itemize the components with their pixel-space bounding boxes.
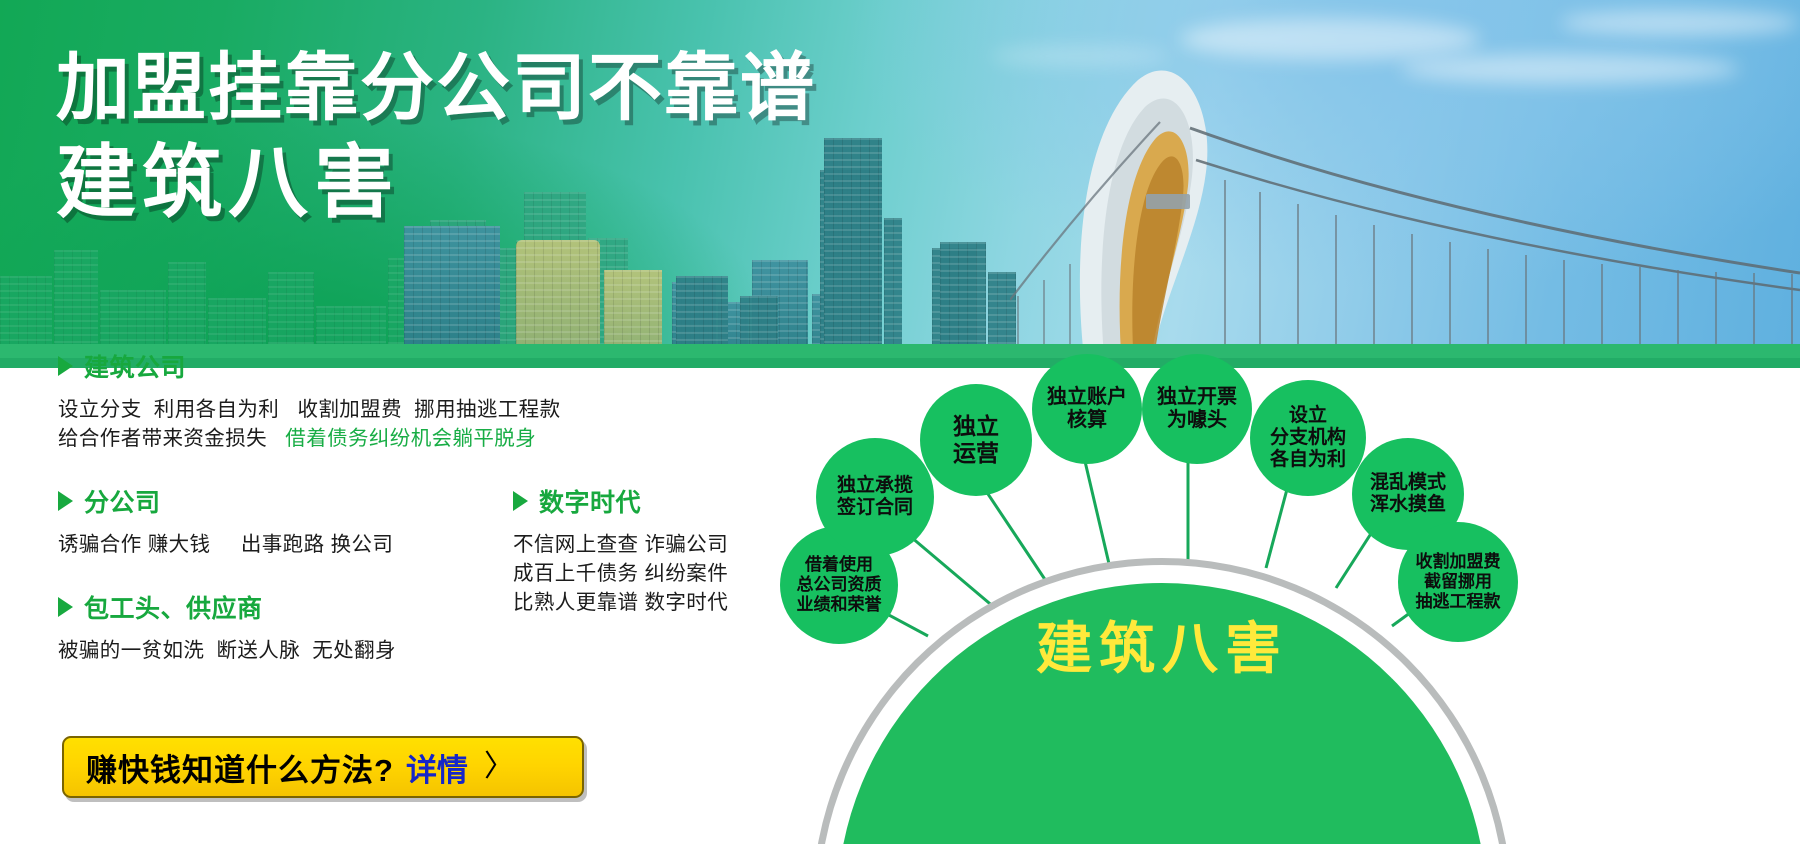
bubble-line: 业绩和荣誉 bbox=[797, 595, 882, 615]
bubble-line: 分支机构 bbox=[1270, 427, 1346, 449]
hero-title-line2: 建筑八害 bbox=[56, 142, 816, 224]
bubble-line: 运营 bbox=[953, 440, 999, 467]
bubble-line: 独立 bbox=[953, 413, 999, 440]
bubble-line: 各自为利 bbox=[1270, 449, 1346, 471]
diagram-center-label: 建筑八害 bbox=[832, 604, 1492, 685]
bubble-line: 抽逃工程款 bbox=[1416, 592, 1501, 612]
triangle-right-icon bbox=[58, 356, 73, 376]
bubble-franchise-fee-harvesting[interactable]: 收割加盟费 截留挪用 抽逃工程款 bbox=[1398, 522, 1518, 642]
details-cta-button[interactable]: 赚快钱知道什么方法? 详情 〉 bbox=[62, 736, 584, 798]
bubble-branch-establishment[interactable]: 设立 分支机构 各自为利 bbox=[1250, 380, 1366, 496]
eight-harms-diagram: 建筑八害 借着使用 总公司资质 业绩和荣誉 独立承揽 签订合同 独立 运营 独立… bbox=[780, 336, 1800, 844]
triangle-right-icon bbox=[513, 491, 528, 511]
bubble-independent-contracting[interactable]: 独立承揽 签订合同 bbox=[816, 438, 934, 556]
bubble-line: 独立承揽 bbox=[837, 475, 913, 497]
section-title: 数字时代 bbox=[539, 483, 641, 519]
section-construction-company: 建筑公司 设立分支 利用各自为利 收割加盟费 挪用抽逃工程款 给合作者带来资金损… bbox=[58, 348, 758, 453]
section-body-line: 不信网上查查 诈骗公司 bbox=[513, 530, 773, 559]
section-body-line: 成百上千债务 纠纷案件 bbox=[513, 559, 773, 588]
section-body-line: 比熟人更靠谱 数字时代 bbox=[513, 588, 773, 617]
cta-details-link[interactable]: 详情 bbox=[406, 745, 468, 790]
bubble-independent-account[interactable]: 独立账户 核算 bbox=[1032, 354, 1142, 464]
hero-title-block: 加盟挂靠分公司不靠谱 建筑八害 bbox=[56, 50, 816, 225]
section-body-text-highlight: 借着债务纠纷机会躺平脱身 bbox=[285, 427, 536, 450]
building-skyscraper bbox=[824, 138, 882, 368]
cta-main-label: 赚快钱知道什么方法? bbox=[86, 745, 394, 790]
bubble-line: 浑水摸鱼 bbox=[1370, 494, 1446, 516]
bubble-independent-invoicing[interactable]: 独立开票 为噱头 bbox=[1142, 354, 1252, 464]
section-title: 建筑公司 bbox=[84, 348, 186, 384]
triangle-right-icon bbox=[58, 491, 73, 511]
section-body-line: 设立分支 利用各自为利 收割加盟费 挪用抽逃工程款 bbox=[58, 395, 758, 424]
hero-title-line1: 加盟挂靠分公司不靠谱 bbox=[56, 50, 816, 126]
cloud-icon bbox=[1560, 10, 1800, 36]
bubble-line: 截留挪用 bbox=[1424, 572, 1492, 592]
section-header: 建筑公司 bbox=[58, 348, 758, 384]
bubble-line: 借着使用 bbox=[805, 555, 873, 575]
section-title: 分公司 bbox=[84, 483, 161, 519]
bubble-line: 为噱头 bbox=[1167, 409, 1227, 432]
bubble-line: 签订合同 bbox=[837, 497, 913, 519]
left-content-column: 建筑公司 设立分支 利用各自为利 收割加盟费 挪用抽逃工程款 给合作者带来资金损… bbox=[58, 348, 758, 671]
bubble-line: 设立 bbox=[1289, 405, 1327, 427]
bubble-line: 核算 bbox=[1067, 409, 1107, 432]
section-body-line: 被骗的一贫如洗 断送人脉 无处翻身 bbox=[58, 636, 758, 665]
bubble-line: 独立开票 bbox=[1157, 386, 1237, 409]
bridge-illustration bbox=[1010, 68, 1800, 368]
bubble-line: 收割加盟费 bbox=[1416, 552, 1501, 572]
section-body-text-plain: 给合作者带来资金损失 bbox=[58, 427, 267, 450]
section-branch-company: 分公司 诱骗合作 赚大钱 出事跑路 换公司 数字时代 不信网上查查 诈骗公司 成… bbox=[58, 483, 758, 559]
hero-banner: 加盟挂靠分公司不靠谱 建筑八害 bbox=[0, 0, 1800, 368]
chevron-right-icon: 〉 bbox=[484, 752, 514, 782]
bubble-line: 总公司资质 bbox=[797, 575, 882, 595]
cloud-icon bbox=[990, 46, 1170, 66]
section-body-line: 给合作者带来资金损失 借着债务纠纷机会躺平脱身 bbox=[58, 424, 758, 453]
cloud-icon bbox=[1180, 18, 1480, 60]
section-title: 包工头、供应商 bbox=[84, 589, 263, 625]
section-digital-era: 数字时代 不信网上查查 诈骗公司 成百上千债务 纠纷案件 比熟人更靠谱 数字时代 bbox=[513, 483, 773, 617]
bubble-line: 混乱模式 bbox=[1370, 472, 1446, 494]
section-header: 数字时代 bbox=[513, 483, 773, 519]
poster-root: 加盟挂靠分公司不靠谱 建筑八害 建筑公司 设立分支 利用各自为利 收割加盟费 挪… bbox=[0, 0, 1800, 844]
triangle-right-icon bbox=[58, 597, 73, 617]
bubble-independent-operation[interactable]: 独立 运营 bbox=[920, 384, 1032, 496]
bubble-line: 独立账户 bbox=[1047, 386, 1127, 409]
